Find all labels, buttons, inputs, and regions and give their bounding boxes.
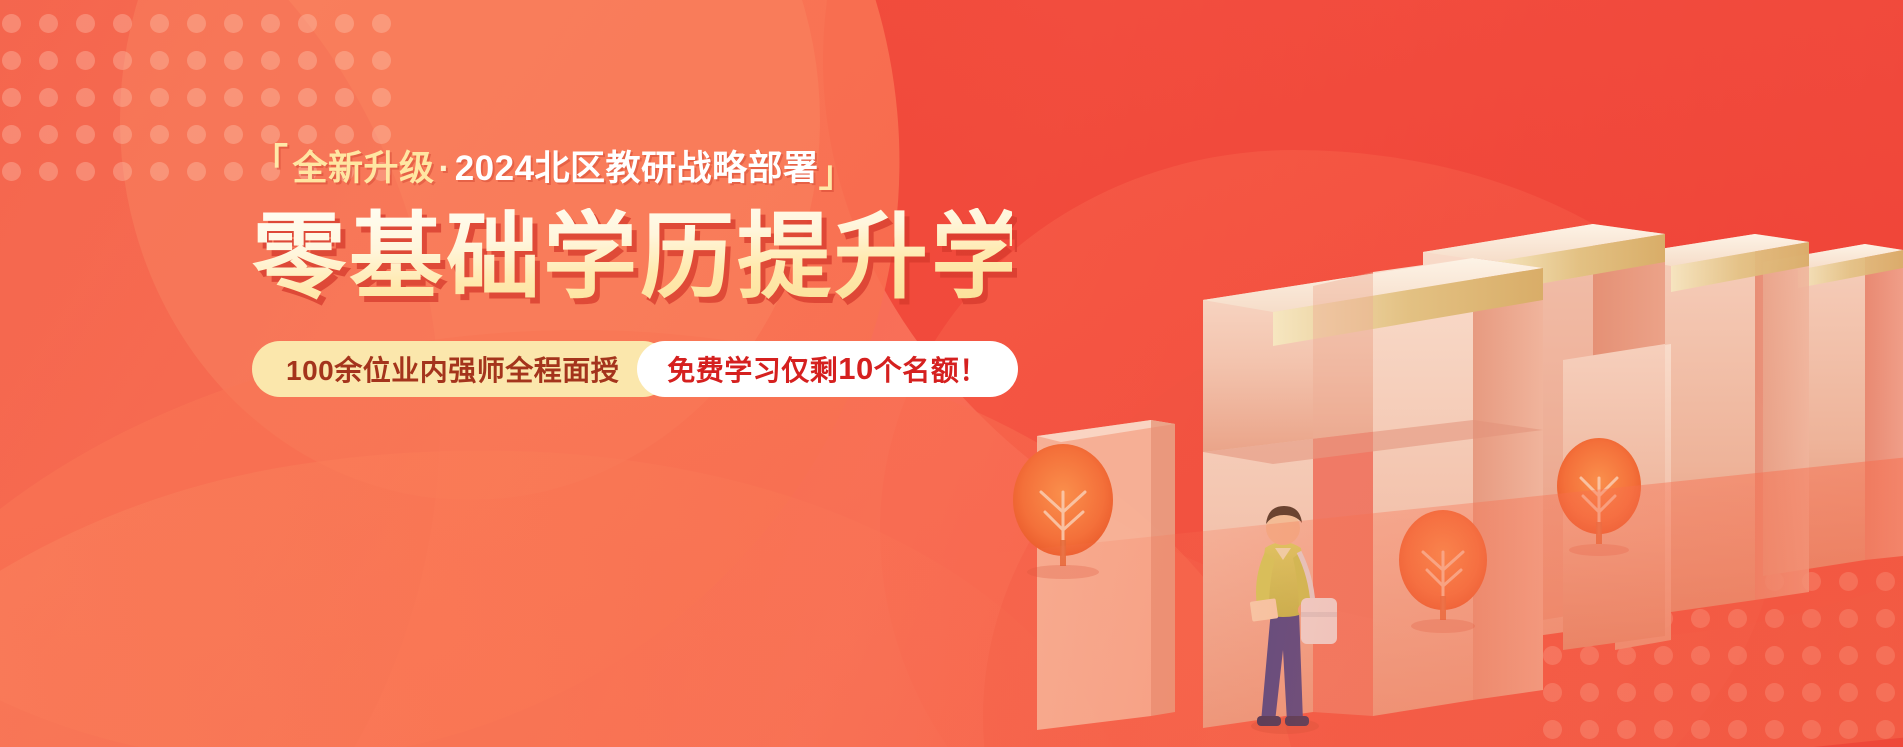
- dot: [76, 14, 95, 33]
- dot: [261, 88, 280, 107]
- dot: [2, 51, 21, 70]
- dot: [187, 88, 206, 107]
- dot: [372, 125, 391, 144]
- dot: [1802, 720, 1821, 739]
- bracket-open-icon: 「: [252, 144, 289, 180]
- dot: [1839, 609, 1858, 628]
- dot: [1839, 646, 1858, 665]
- seats-pill: 免费学习仅剩 10 个名额！: [637, 341, 1018, 397]
- dot: [1839, 720, 1858, 739]
- dot: [187, 162, 206, 181]
- dot: [1728, 646, 1747, 665]
- dot: [1765, 646, 1784, 665]
- dot: [2, 88, 21, 107]
- dot-pattern-bottom-right: [1543, 572, 1895, 739]
- dot: [150, 125, 169, 144]
- banner-subtitle: 「 全新升级 · 2024北区教研战略部署 」: [252, 150, 1012, 186]
- dot: [1839, 572, 1858, 591]
- dot: [1802, 683, 1821, 702]
- arch-1: [1203, 258, 1543, 728]
- dot: [1654, 683, 1673, 702]
- dot: [372, 88, 391, 107]
- dot: [39, 51, 58, 70]
- dot: [335, 51, 354, 70]
- dot: [1728, 720, 1747, 739]
- dot: [298, 51, 317, 70]
- dot: [224, 162, 243, 181]
- student-figure: [1250, 506, 1337, 734]
- dot: [1691, 646, 1710, 665]
- dot: [1765, 609, 1784, 628]
- seats-pill-prefix: 免费学习仅剩: [667, 349, 838, 389]
- dot: [39, 88, 58, 107]
- dot: [150, 88, 169, 107]
- dot: [1765, 572, 1784, 591]
- dot: [2, 14, 21, 33]
- dot: [1876, 720, 1895, 739]
- dot: [1543, 646, 1562, 665]
- dot: [1876, 609, 1895, 628]
- dot: [1543, 572, 1562, 591]
- dot: [113, 125, 132, 144]
- dot: [39, 14, 58, 33]
- dot: [1617, 720, 1636, 739]
- subtitle-highlight: 全新升级: [289, 151, 435, 186]
- dot: [1580, 683, 1599, 702]
- dot: [2, 125, 21, 144]
- dot: [298, 88, 317, 107]
- dot: [1876, 572, 1895, 591]
- dot: [1617, 683, 1636, 702]
- dot: [1802, 646, 1821, 665]
- dot: [224, 125, 243, 144]
- dot: [39, 125, 58, 144]
- dot: [1580, 609, 1599, 628]
- tree-right: [1557, 438, 1641, 556]
- dot: [1728, 683, 1747, 702]
- dot: [1580, 720, 1599, 739]
- dot: [298, 14, 317, 33]
- dot: [224, 51, 243, 70]
- dot: [187, 125, 206, 144]
- dot: [1691, 720, 1710, 739]
- dot: [1765, 683, 1784, 702]
- arch-4: [1763, 244, 1903, 576]
- dot: [1617, 609, 1636, 628]
- dot: [1543, 609, 1562, 628]
- dot: [1728, 609, 1747, 628]
- seats-pill-suffix: 个名额！: [874, 349, 988, 389]
- dot: [335, 125, 354, 144]
- banner-text-block: 「 全新升级 · 2024北区教研战略部署 」 零基础学历提升学霸班 100余位…: [252, 150, 1012, 397]
- dot: [1765, 720, 1784, 739]
- dot: [1691, 683, 1710, 702]
- dot: [1802, 609, 1821, 628]
- dot: [335, 14, 354, 33]
- dot: [113, 51, 132, 70]
- subtitle-separator: ·: [435, 151, 455, 186]
- dot: [113, 162, 132, 181]
- dot: [1543, 720, 1562, 739]
- dot: [76, 162, 95, 181]
- seats-pill-number: 10: [838, 351, 873, 387]
- dot: [187, 14, 206, 33]
- promo-banner: 「 全新升级 · 2024北区教研战略部署 」 零基础学历提升学霸班 100余位…: [0, 0, 1903, 747]
- dot: [1654, 646, 1673, 665]
- dot: [1654, 572, 1673, 591]
- dot: [1654, 720, 1673, 739]
- dot: [1876, 646, 1895, 665]
- dot: [1617, 646, 1636, 665]
- bracket-close-icon: 」: [819, 156, 856, 192]
- dot: [224, 14, 243, 33]
- tree-left: [1013, 444, 1113, 579]
- dot: [1802, 572, 1821, 591]
- dot: [1691, 609, 1710, 628]
- dot: [261, 51, 280, 70]
- dot: [76, 51, 95, 70]
- dot: [372, 51, 391, 70]
- background-light-sweep: [0, 343, 1159, 747]
- dot: [187, 51, 206, 70]
- banner-pill-row: 100余位业内强师全程面授 免费学习仅剩 10 个名额！: [252, 341, 1012, 397]
- dot: [150, 14, 169, 33]
- dot: [2, 162, 21, 181]
- dot: [113, 14, 132, 33]
- dot: [1876, 683, 1895, 702]
- dot: [335, 88, 354, 107]
- dot: [1543, 683, 1562, 702]
- dot: [76, 125, 95, 144]
- dot: [1580, 572, 1599, 591]
- dot: [1617, 572, 1636, 591]
- dot: [372, 14, 391, 33]
- dot: [1580, 646, 1599, 665]
- dot: [224, 88, 243, 107]
- banner-headline: 零基础学历提升学霸班: [252, 208, 1012, 307]
- dot: [261, 14, 280, 33]
- dot: [1728, 572, 1747, 591]
- tree-mid: [1399, 510, 1487, 633]
- dot: [39, 162, 58, 181]
- dot: [113, 88, 132, 107]
- dot: [298, 125, 317, 144]
- dot: [1839, 683, 1858, 702]
- dot: [76, 88, 95, 107]
- dot: [150, 51, 169, 70]
- subtitle-rest: 2024北区教研战略部署: [455, 151, 819, 186]
- dot: [1654, 609, 1673, 628]
- dot: [1691, 572, 1710, 591]
- instructors-pill: 100余位业内强师全程面授: [252, 341, 671, 397]
- dot: [150, 162, 169, 181]
